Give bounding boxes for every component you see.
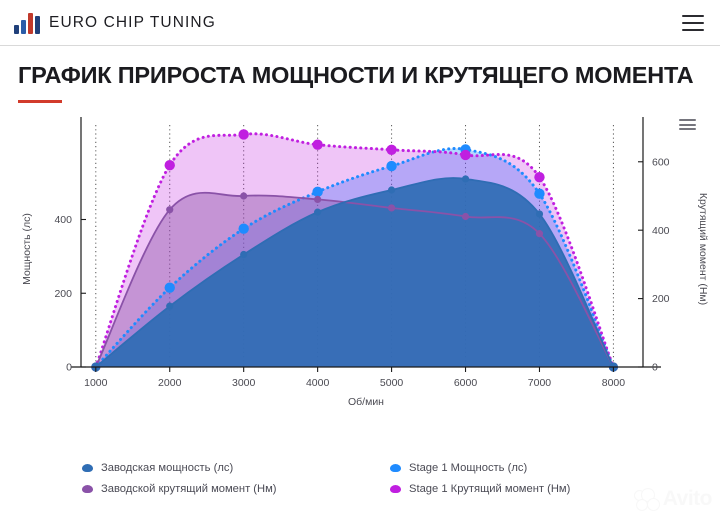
bar-chart-logo-icon — [14, 12, 40, 34]
legend-label-stage1-torque: Stage 1 Крутящий момент (Нм) — [409, 483, 570, 495]
brand-name: EURO CHIP TUNING — [49, 14, 216, 32]
hamburger-menu-icon[interactable] — [682, 15, 704, 31]
legend-marker-stage1-torque — [390, 485, 401, 493]
chart-legend: Заводская мощность (лс) Заводской крутящ… — [0, 455, 720, 505]
svg-text:1000: 1000 — [84, 377, 108, 389]
legend-label-factory-torque: Заводской крутящий момент (Нм) — [101, 483, 277, 495]
chart-context-menu-icon[interactable] — [679, 119, 696, 130]
svg-text:600: 600 — [652, 156, 670, 168]
top-bar: EURO CHIP TUNING — [0, 0, 720, 46]
svg-text:Об/мин: Об/мин — [348, 396, 384, 408]
avito-logo-icon — [634, 488, 660, 510]
legend-item-stage1-torque[interactable]: Stage 1 Крутящий момент (Нм) — [390, 478, 570, 499]
svg-text:0: 0 — [652, 362, 658, 374]
svg-text:4000: 4000 — [306, 377, 330, 389]
svg-text:3000: 3000 — [232, 377, 256, 389]
avito-watermark: Avito — [634, 487, 712, 511]
power-torque-chart[interactable]: 0200400020040060010002000300040005000600… — [0, 111, 720, 471]
title-underline-rule — [18, 100, 62, 103]
chart-container: 0200400020040060010002000300040005000600… — [0, 111, 720, 471]
svg-text:6000: 6000 — [454, 377, 478, 389]
legend-column-left: Заводская мощность (лс) Заводской крутящ… — [82, 457, 277, 499]
svg-text:8000: 8000 — [602, 377, 626, 389]
page-root: EURO CHIP TUNING ГРАФИК ПРИРОСТА МОЩНОСТ… — [0, 0, 720, 517]
page-title: ГРАФИК ПРИРОСТА МОЩНОСТИ И КРУТЯЩЕГО МОМ… — [18, 62, 702, 89]
legend-item-factory-power[interactable]: Заводская мощность (лс) — [82, 457, 277, 478]
legend-marker-stage1-power — [390, 464, 401, 472]
legend-column-right: Stage 1 Мощность (лс) Stage 1 Крутящий м… — [390, 457, 570, 499]
legend-marker-factory-torque — [82, 485, 93, 493]
legend-item-factory-torque[interactable]: Заводской крутящий момент (Нм) — [82, 478, 277, 499]
title-section: ГРАФИК ПРИРОСТА МОЩНОСТИ И КРУТЯЩЕГО МОМ… — [0, 46, 720, 103]
svg-text:200: 200 — [54, 288, 72, 300]
brand-logo[interactable]: EURO CHIP TUNING — [14, 12, 216, 34]
watermark-text: Avito — [663, 487, 712, 511]
svg-text:400: 400 — [54, 214, 72, 226]
legend-label-factory-power: Заводская мощность (лс) — [101, 462, 233, 474]
svg-text:0: 0 — [66, 362, 72, 374]
svg-text:400: 400 — [652, 225, 670, 237]
svg-text:7000: 7000 — [528, 377, 552, 389]
legend-label-stage1-power: Stage 1 Мощность (лс) — [409, 462, 527, 474]
svg-text:5000: 5000 — [380, 377, 404, 389]
svg-text:200: 200 — [652, 293, 670, 305]
svg-text:Мощность (лс): Мощность (лс) — [21, 213, 33, 285]
legend-marker-factory-power — [82, 464, 93, 472]
legend-item-stage1-power[interactable]: Stage 1 Мощность (лс) — [390, 457, 570, 478]
svg-text:Крутящий момент (Нм): Крутящий момент (Нм) — [697, 193, 709, 305]
svg-text:2000: 2000 — [158, 377, 182, 389]
